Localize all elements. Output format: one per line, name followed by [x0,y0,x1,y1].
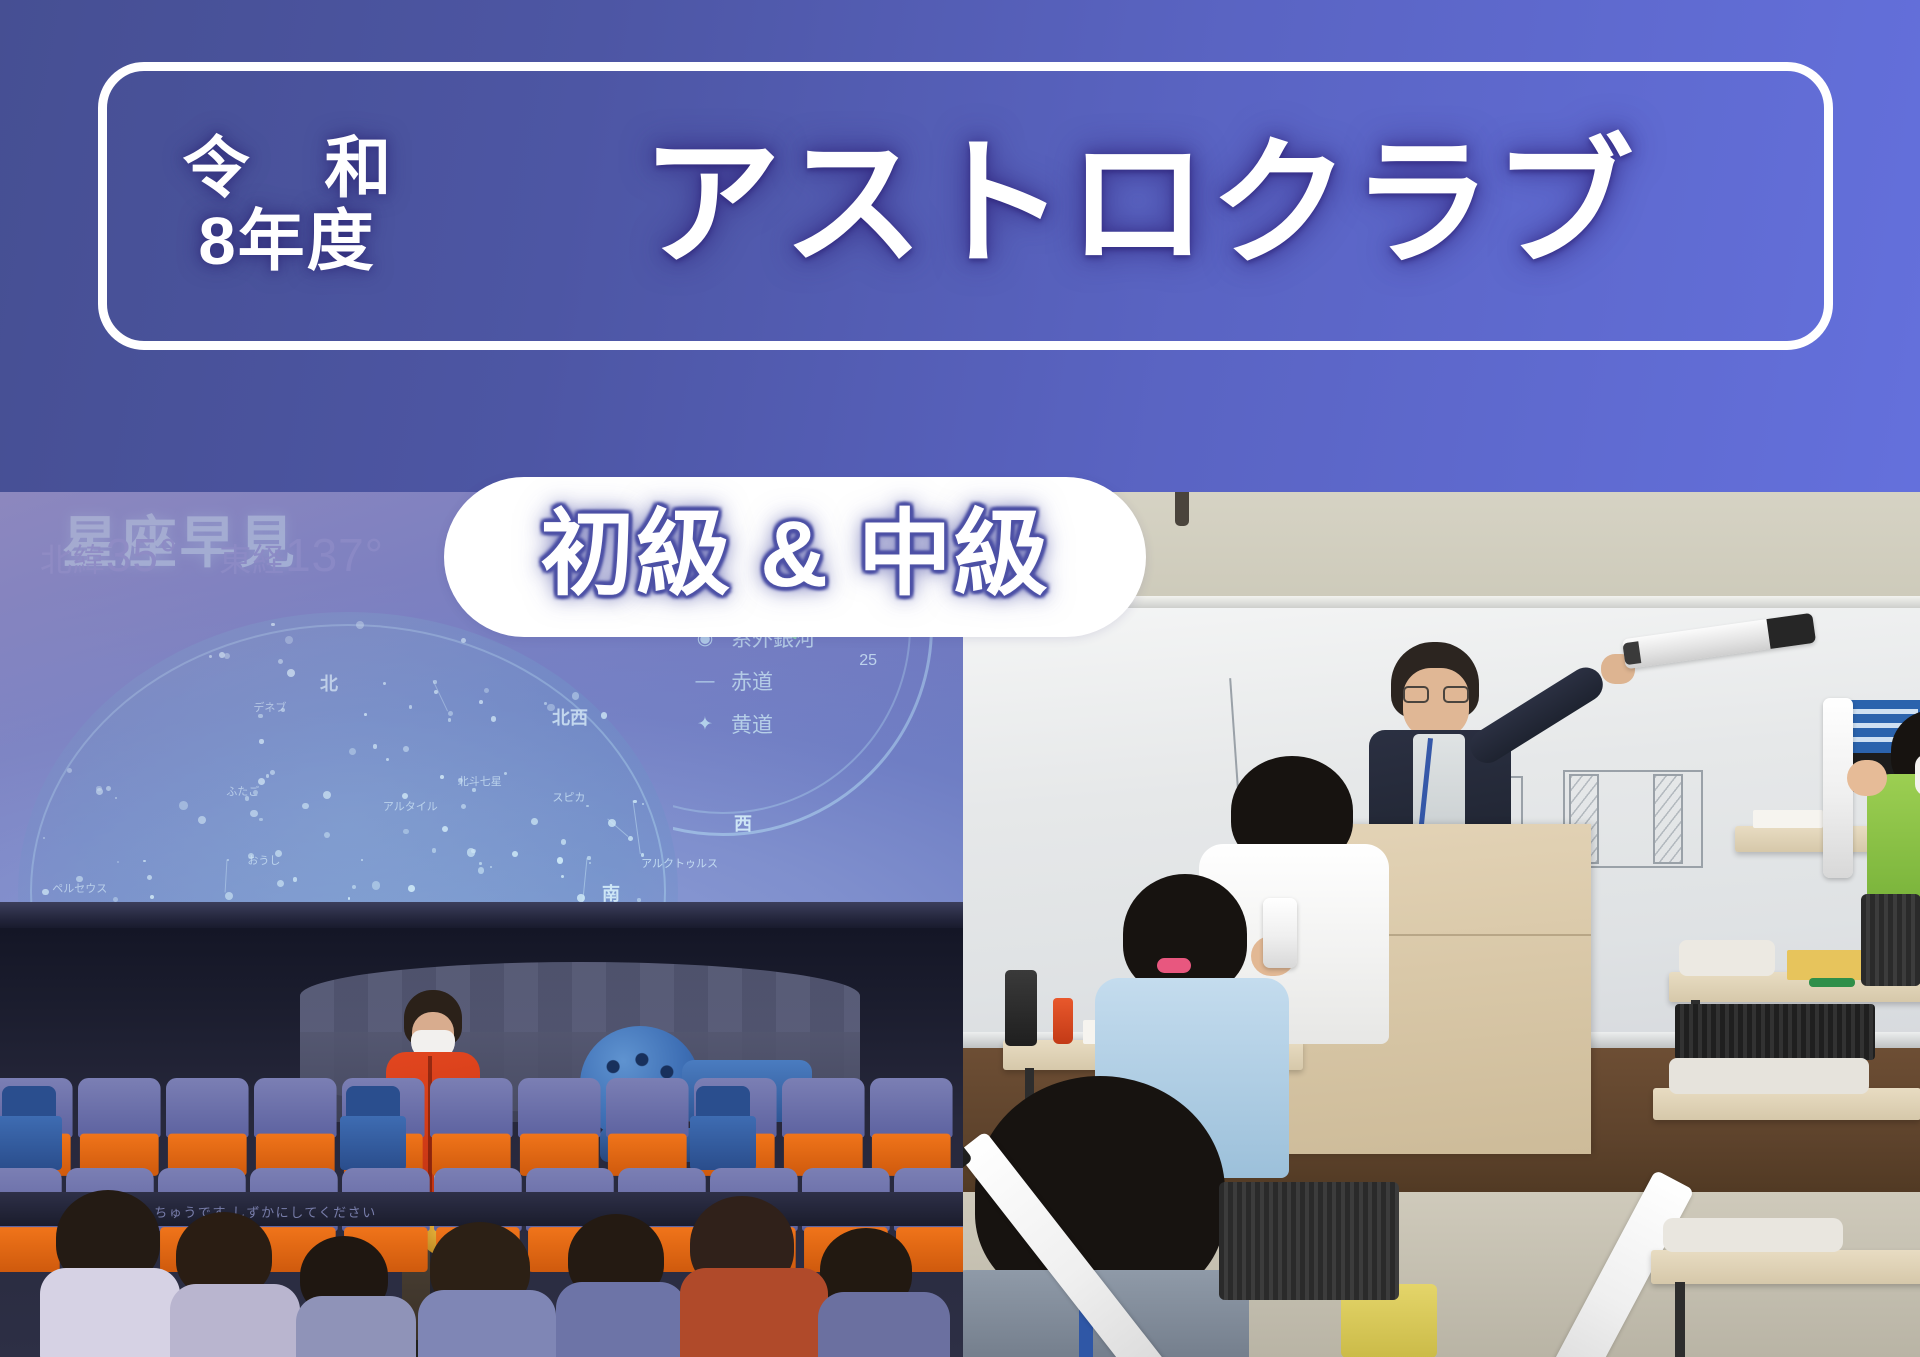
seat-back [166,1078,249,1138]
title-frame: 令 和 8年度 アストロクラブ [98,62,1833,350]
child-clothing [680,1268,828,1357]
whiteboard-hatch-2 [1653,774,1683,864]
student-chair-right [1861,894,1920,986]
child-clothing [170,1284,300,1357]
child-clothing [418,1290,556,1357]
level-badge-label: 初級 & 中級 [540,507,1049,607]
desk-paper-right [1753,810,1823,828]
theater-seat [518,1078,601,1178]
green-marker [1809,978,1855,987]
child-clothing [818,1292,950,1357]
instructor-face [1403,668,1469,738]
desk-leg [1675,1282,1685,1357]
telescope-tube-student-right [1823,698,1853,878]
console-body [0,1116,62,1170]
seat-back [78,1078,161,1138]
instructor-raised-arm [1464,661,1609,769]
theater-seat [870,1078,953,1178]
child-clothing [296,1296,416,1357]
seat-cushion [0,1227,60,1272]
console-top [2,1086,56,1120]
era-block: 令 和 8年度 [107,133,467,279]
wrapped-kit [1669,1058,1869,1094]
console-body [340,1116,406,1170]
era-line-1: 令 和 [154,133,419,205]
theater-seat [430,1078,513,1178]
console-body [690,1116,756,1170]
seat-back [606,1078,689,1138]
child-clothing [556,1282,686,1357]
theater-seat [254,1078,337,1178]
era-line-2: 8年度 [198,205,375,279]
theater-seat [78,1078,161,1178]
student-face-mask-right [1915,754,1920,796]
whiteboard-hanging-wire [1229,678,1239,788]
glue-bottle [1053,998,1073,1044]
theater-seat [606,1078,689,1178]
theater-seat [166,1078,249,1178]
desk-basket [1675,1004,1875,1060]
student-hand-right [1847,760,1887,796]
page-title: アストロクラブ [467,134,1824,278]
plastic-wrap [1663,1218,1843,1252]
level-badge: 初級 & 中級 [444,477,1146,637]
console-top [346,1086,400,1120]
seat-back [430,1078,513,1138]
seat-back [782,1078,865,1138]
seat-back [254,1078,337,1138]
theater-seat [782,1078,865,1178]
student-chair-centre [1219,1182,1399,1300]
hair-scrunchie [1157,958,1191,973]
ceiling-sensor [1175,492,1189,526]
seat-console [340,1086,406,1172]
thermos-bottle [1005,970,1037,1046]
seat-back [518,1078,601,1138]
header-band: 令 和 8年度 アストロクラブ [0,0,1920,492]
poster-root: 令 和 8年度 アストロクラブ 星座早見 北緯35° 東経137° ✳太陽 ·星… [0,0,1920,1357]
telescope-tube-held-blue [1263,898,1297,968]
console-top [696,1086,750,1120]
seat-back [870,1078,953,1138]
student-desk-bottom-right [1651,1250,1920,1284]
child-clothing [40,1268,180,1357]
glasses-icon [1403,686,1471,703]
plastic-bag [1679,940,1775,976]
seat-console [0,1086,62,1172]
seat-console [690,1086,756,1172]
